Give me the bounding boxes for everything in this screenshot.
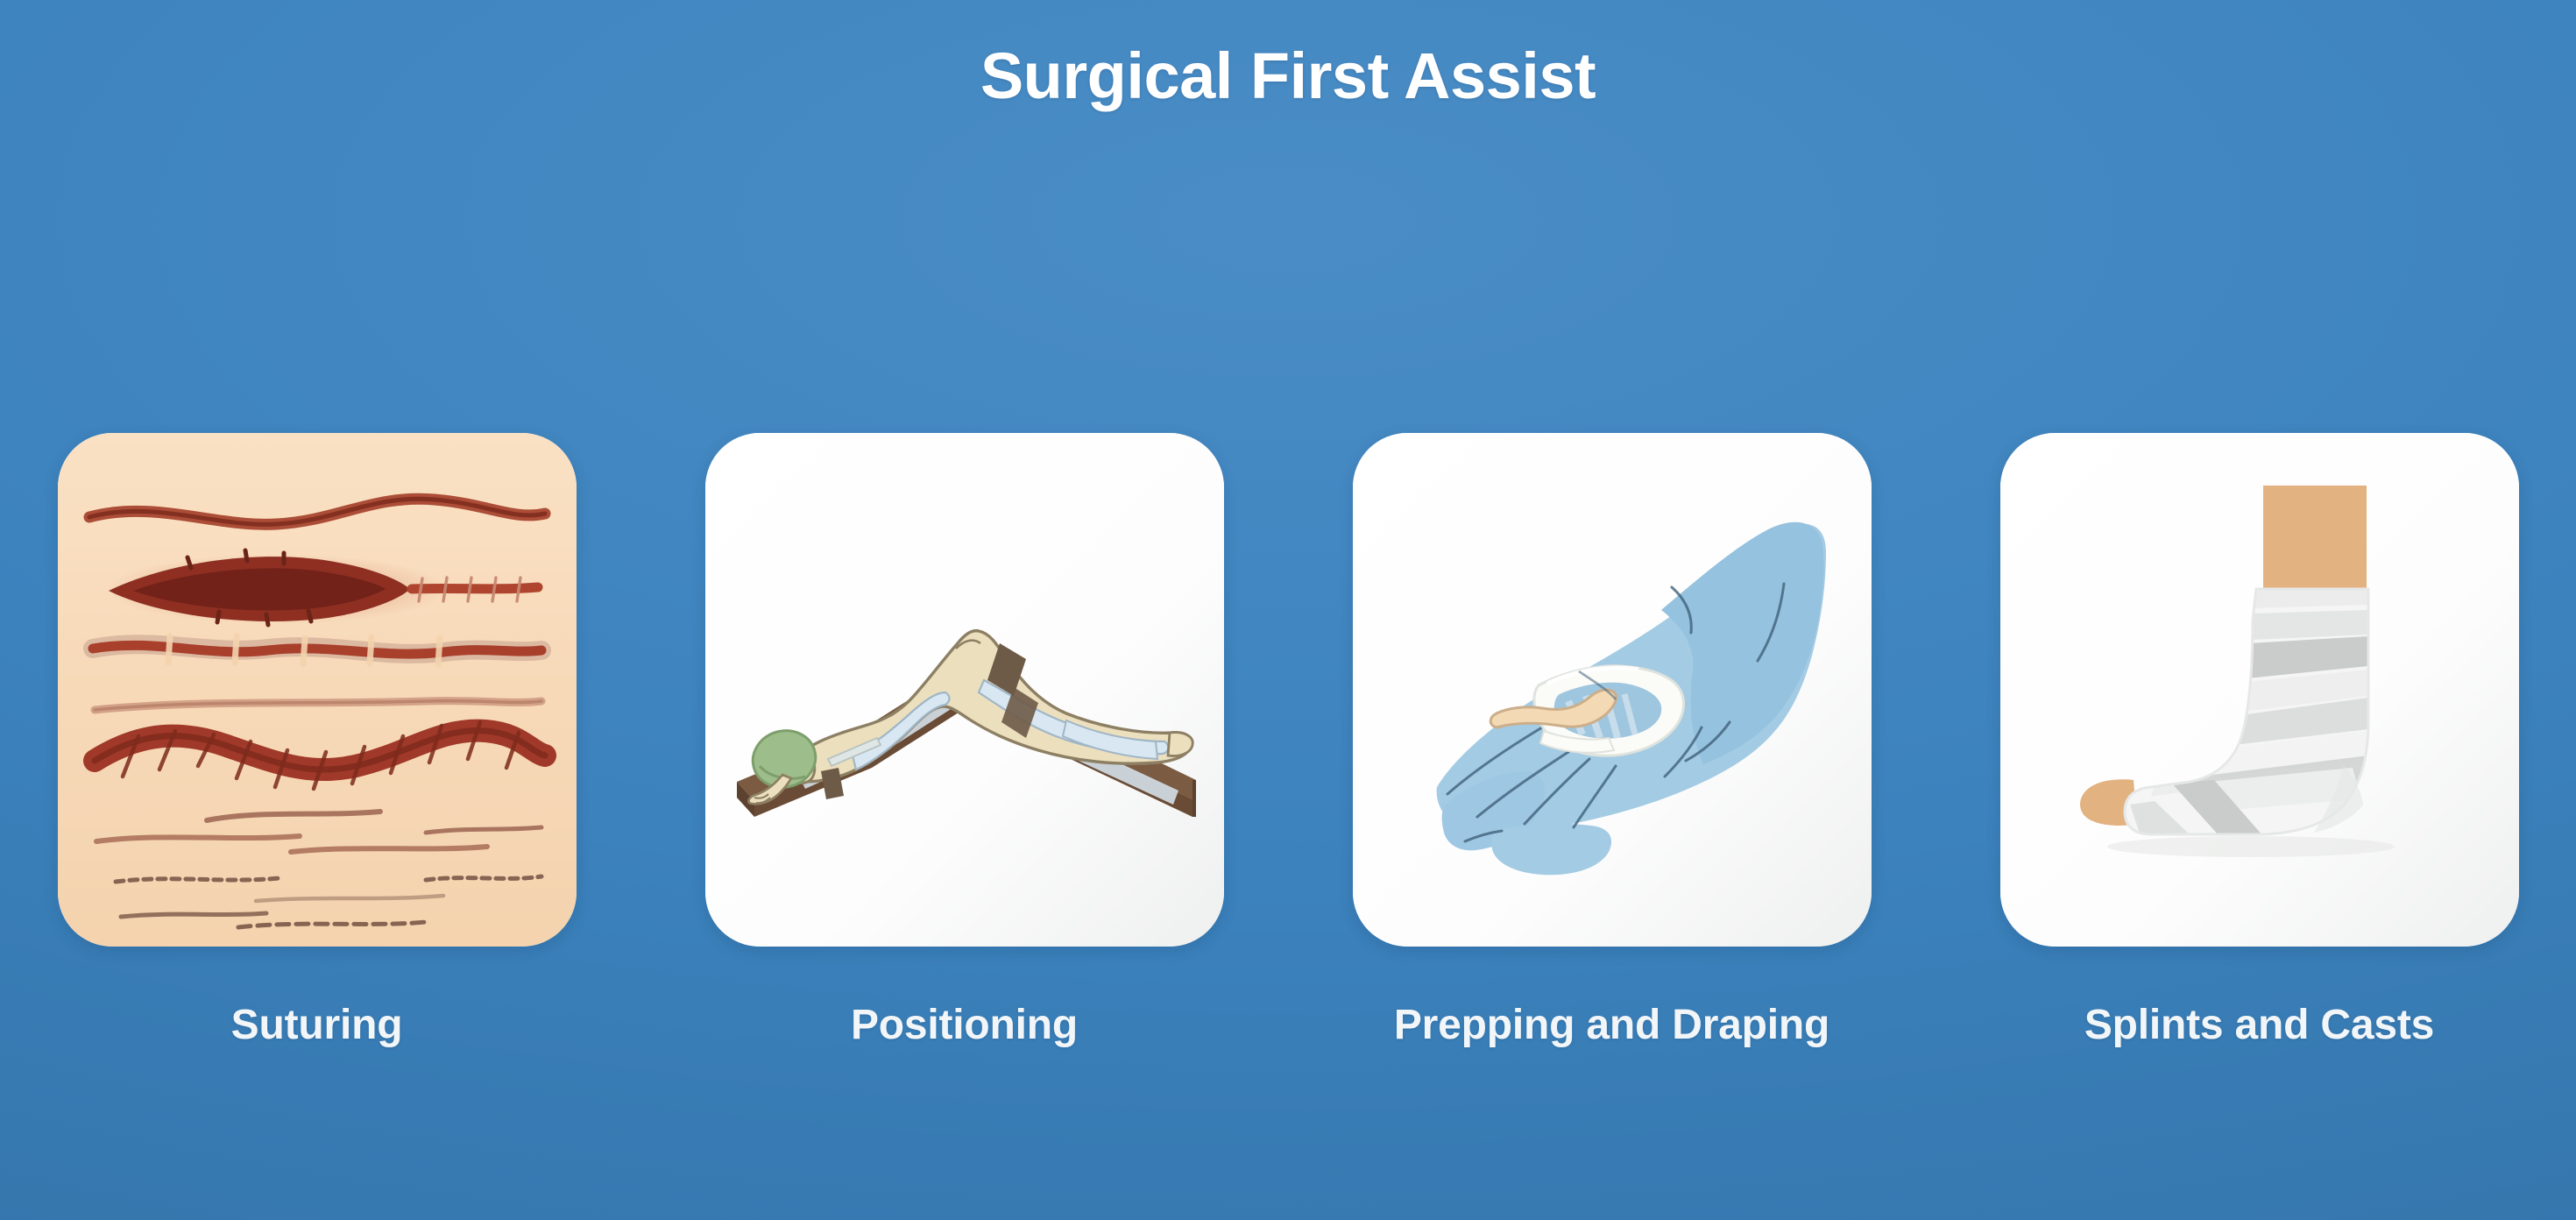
surgical-drape-icon [1353,433,1872,947]
foot-cast-bandage-icon [2000,433,2519,947]
suturing-card-image[interactable] [58,433,577,947]
topic-card-positioning[interactable]: Positioning [705,433,1224,1049]
slide-canvas: Surgical First Assist [0,0,2576,1220]
topic-card-prepping-and-draping[interactable]: Prepping and Draping [1353,433,1872,1049]
prepping-draping-card-image[interactable] [1353,433,1872,947]
patient-positioning-jackknife-icon [705,433,1224,947]
positioning-card-label: Positioning [851,1001,1078,1049]
prepping-draping-card-label: Prepping and Draping [1394,1001,1829,1049]
topic-card-suturing[interactable]: Suturing [58,433,577,1049]
suturing-card-label: Suturing [231,1001,403,1049]
splints-casts-card-label: Splints and Casts [2084,1001,2434,1049]
topic-card-splints-and-casts[interactable]: Splints and Casts [2000,433,2519,1049]
topic-card-row: Suturing [0,433,2576,1049]
page-title: Surgical First Assist [0,42,2576,110]
positioning-card-image[interactable] [705,433,1224,947]
suture-practice-pad-icon [58,433,577,947]
splints-casts-card-image[interactable] [2000,433,2519,947]
